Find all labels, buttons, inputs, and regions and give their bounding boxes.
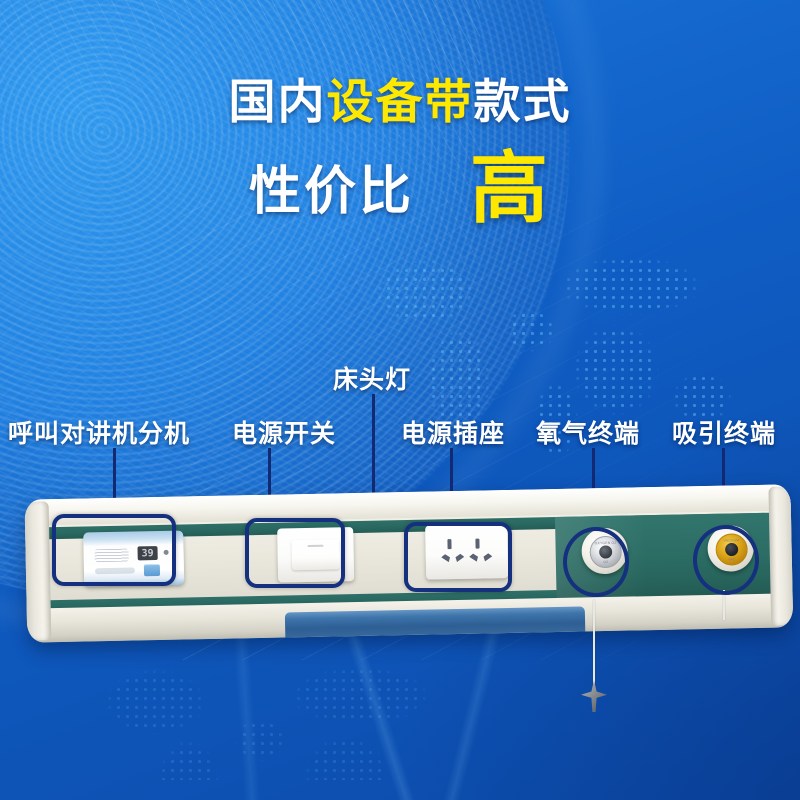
callout-label-suction: 吸引终端 [672, 414, 776, 450]
callout-label-power-socket: 电源插座 [401, 414, 505, 450]
headline-subtext: 性价比 [249, 163, 414, 221]
highlight-circle-suction [693, 525, 759, 595]
highlight-box-power-socket [404, 522, 512, 592]
headline-part-2: 设备带 [327, 75, 474, 128]
headline-line-1: 国内设备带款式 [0, 78, 800, 125]
callout-label-intercom: 呼叫对讲机分机 [8, 414, 190, 450]
headline-block: 国内设备带款式 性价比高 [0, 78, 800, 227]
nurse-call-pull-cord[interactable] [593, 600, 595, 688]
callout-label-power-switch: 电源开关 [232, 414, 336, 450]
highlight-box-power-switch [245, 518, 345, 588]
headline-emphasis-word: 高 [470, 149, 551, 227]
highlight-box-intercom [52, 514, 176, 586]
callout-label-bed-lamp: 床头灯 [333, 360, 411, 396]
panel-end-cap-left [25, 501, 52, 640]
headline-part-1: 国内 [229, 75, 327, 128]
highlight-circle-oxygen [563, 527, 629, 597]
bed-lamp-diffuser [285, 606, 586, 642]
headline-part-3: 款式 [474, 75, 572, 128]
panel-end-cap-right [768, 486, 793, 625]
headline-line-2: 性价比高 [0, 149, 800, 227]
callout-label-oxygen: 氧气终端 [536, 414, 640, 450]
promo-image: 国内设备带款式 性价比高 呼叫对讲机分机 电源开关 床头灯 电源插座 氧气终端 … [0, 0, 800, 800]
